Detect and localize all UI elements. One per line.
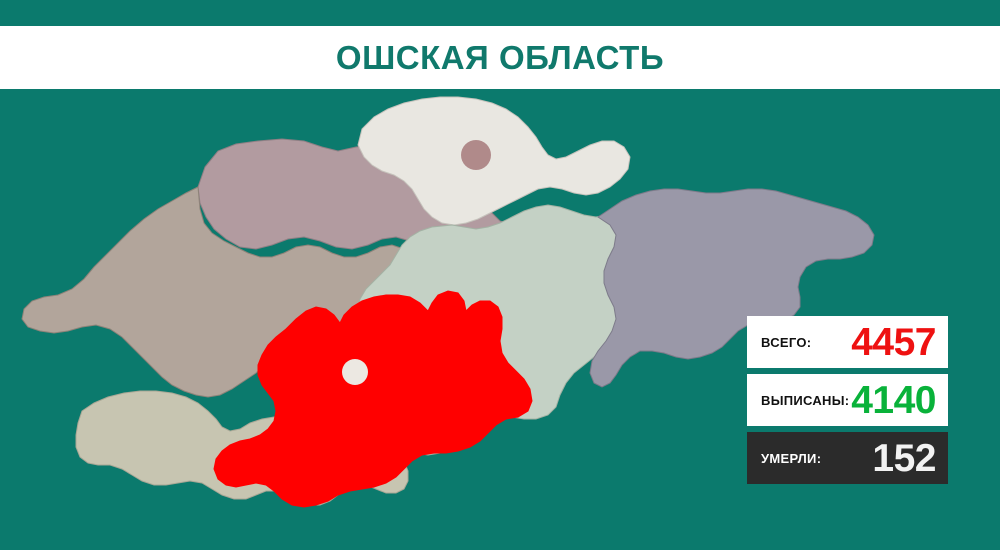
infographic-root: ОШСКАЯ ОБЛАСТЬ ВСЕГО: 4 — [0, 0, 1000, 550]
stat-row-total[interactable]: ВСЕГО: 4457 — [747, 316, 948, 368]
stat-label-total: ВСЕГО: — [761, 336, 811, 349]
capital-dot-osh[interactable] — [342, 359, 368, 385]
title-band: ОШСКАЯ ОБЛАСТЬ — [0, 26, 1000, 89]
stat-row-recovered[interactable]: ВЫПИСАНЫ: 4140 — [747, 374, 948, 426]
statistics-panel: ВСЕГО: 4457 ВЫПИСАНЫ: 4140 УМЕРЛИ: 152 — [747, 316, 948, 484]
stat-label-recovered: ВЫПИСАНЫ: — [761, 394, 849, 407]
top-accent-band — [0, 0, 1000, 26]
stat-label-deaths: УМЕРЛИ: — [761, 452, 821, 465]
stat-value-deaths: 152 — [872, 439, 936, 478]
stat-value-recovered: 4140 — [851, 381, 936, 420]
stat-value-total: 4457 — [851, 323, 936, 362]
page-title: ОШСКАЯ ОБЛАСТЬ — [336, 41, 664, 74]
stat-row-deaths[interactable]: УМЕРЛИ: 152 — [747, 432, 948, 484]
capital-dot-north[interactable] — [461, 140, 491, 170]
